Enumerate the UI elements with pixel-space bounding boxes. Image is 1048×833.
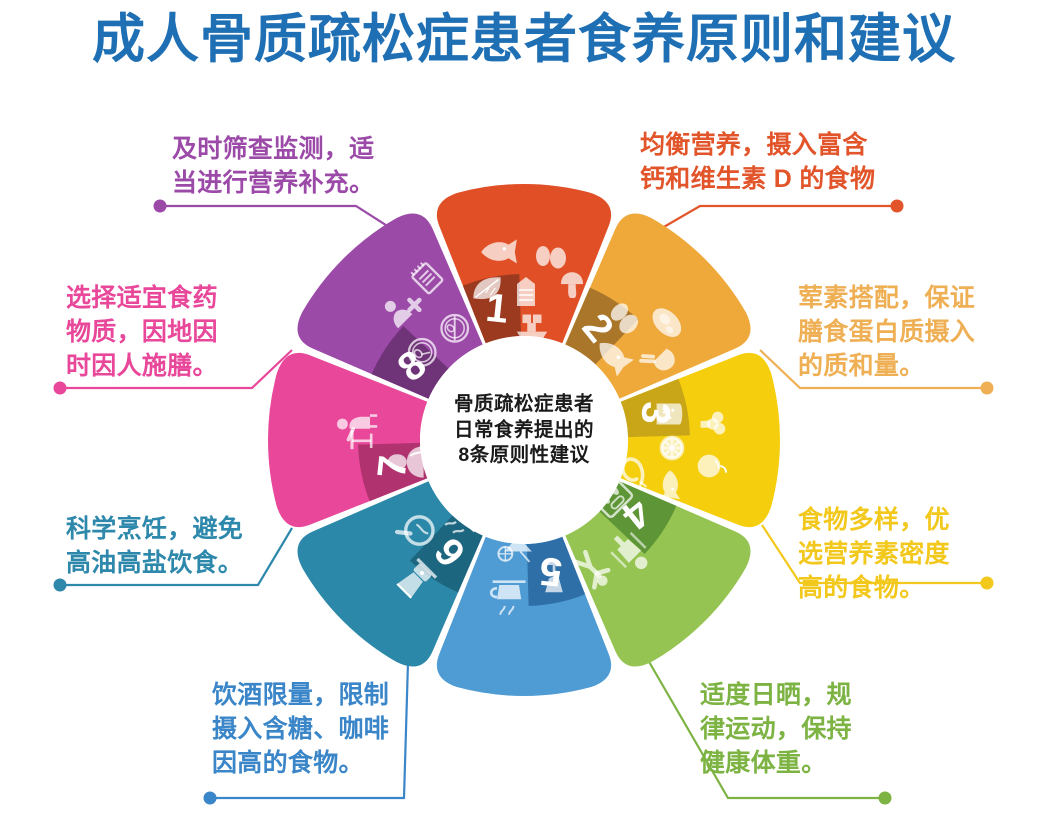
infographic-root: 成人骨质疏松症患者食养原则和建议 — [0, 0, 1048, 833]
petal-label-2-line-2: 膳食蛋白质摄入 — [798, 315, 975, 349]
petal-label-8-line-1: 及时筛查监测，适 — [172, 132, 374, 166]
petal-label-5: 饮酒限量，限制摄入含糖、咖啡因高的食物。 — [212, 678, 389, 780]
petal-label-8: 及时筛查监测，适当进行营养补充。 — [172, 132, 374, 200]
page-title: 成人骨质疏松症患者食养原则和建议 — [0, 10, 1048, 69]
petal-label-6: 科学烹饪，避免高油高盐饮食。 — [66, 512, 243, 580]
petal-label-7-line-1: 选择适宜食药 — [66, 281, 218, 315]
petal-label-7-line-3: 时因人施膳。 — [66, 349, 218, 383]
petal-label-7-line-2: 物质，因地因 — [66, 315, 218, 349]
petal-label-3-line-2: 选营养素密度 — [798, 537, 950, 571]
petal-label-5-line-2: 摄入含糖、咖啡 — [212, 712, 389, 746]
petal-label-4-line-2: 律运动，保持 — [700, 712, 852, 746]
center-line-2: 日常食养提出的 — [385, 418, 663, 444]
petal-label-2: 荤素搭配，保证膳食蛋白质摄入的质和量。 — [798, 281, 975, 383]
petal-label-7: 选择适宜食药物质，因地因时因人施膳。 — [66, 281, 218, 383]
petal-label-2-line-1: 荤素搭配，保证 — [798, 281, 975, 315]
petal-label-1-line-2: 钙和维生素 D 的食物 — [640, 162, 875, 196]
center-line-3: 8条原则性建议 — [385, 443, 663, 469]
petal-label-1: 均衡营养，摄入富含钙和维生素 D 的食物 — [640, 128, 875, 196]
petal-label-5-line-3: 因高的食物。 — [212, 746, 389, 780]
petal-label-1-line-1: 均衡营养，摄入富含 — [640, 128, 875, 162]
petal-label-2-line-3: 的质和量。 — [798, 349, 975, 383]
petal-label-6-line-1: 科学烹饪，避免 — [66, 512, 243, 546]
petal-label-4: 适度日晒，规律运动，保持健康体重。 — [700, 678, 852, 780]
petal-label-3: 食物多样，优选营养素密度高的食物。 — [798, 503, 950, 605]
petal-label-3-line-3: 高的食物。 — [798, 571, 950, 605]
citrus-icon — [660, 436, 685, 461]
center-line-1: 骨质疏松症患者 — [385, 392, 663, 418]
petal-label-8-line-2: 当进行营养补充。 — [172, 166, 374, 200]
petal-label-4-line-3: 健康体重。 — [700, 746, 852, 780]
center-caption: 骨质疏松症患者 日常食养提出的 8条原则性建议 — [385, 392, 663, 469]
petal-label-3-line-1: 食物多样，优 — [798, 503, 950, 537]
petal-label-6-line-2: 高油高盐饮食。 — [66, 546, 243, 580]
petal-label-5-line-1: 饮酒限量，限制 — [212, 678, 389, 712]
petal-label-4-line-1: 适度日晒，规 — [700, 678, 852, 712]
